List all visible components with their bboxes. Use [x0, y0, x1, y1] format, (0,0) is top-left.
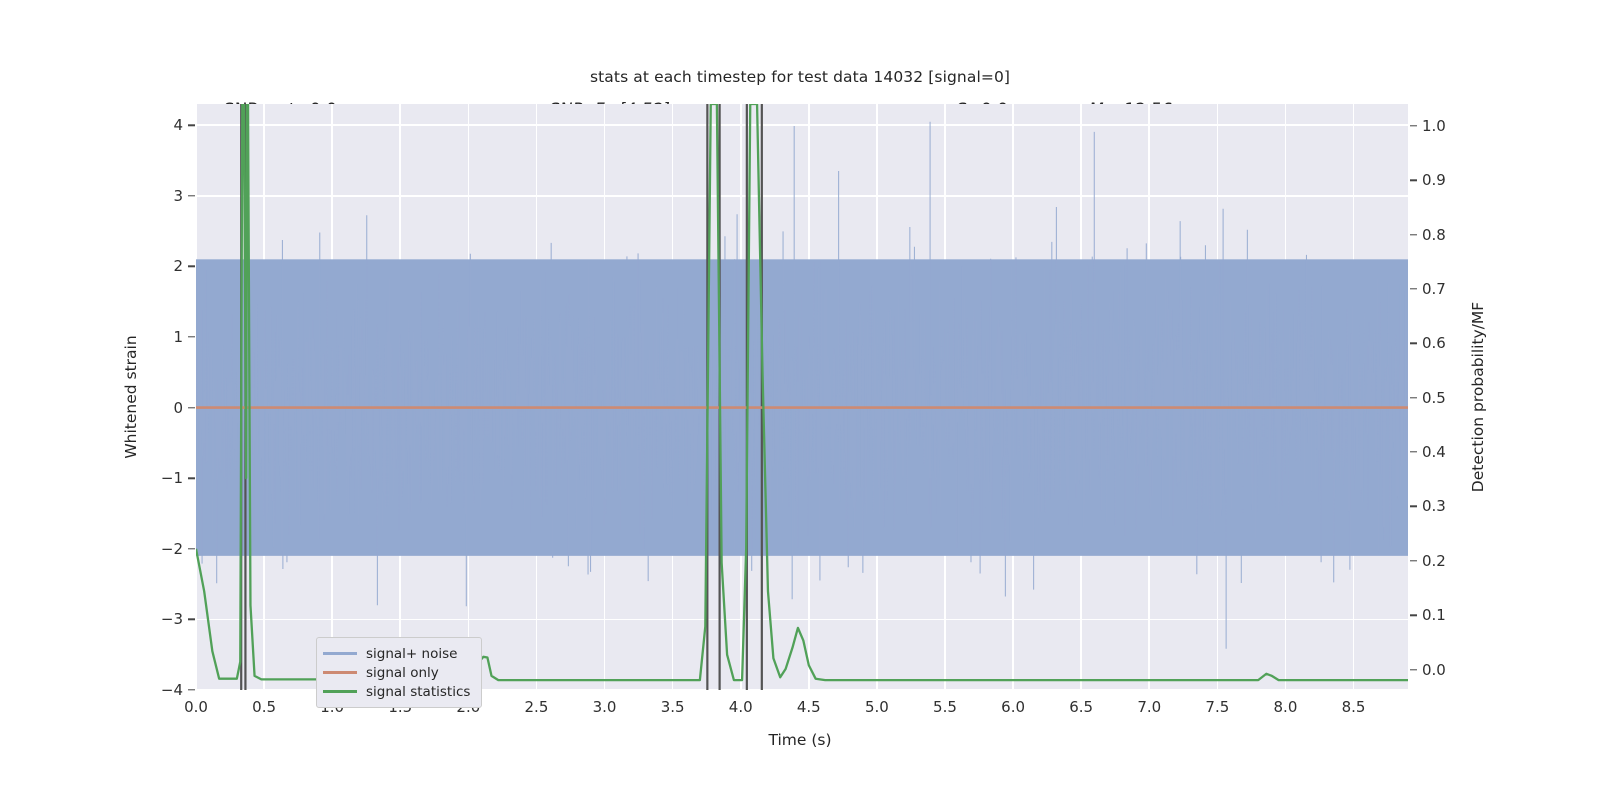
y-axis-left-tick-mark: [188, 336, 195, 337]
y-axis-right-tick-mark: [1410, 288, 1417, 289]
y-axis-left-tick-mark: [188, 407, 195, 408]
y-axis-left-label: Whitened strain: [122, 335, 140, 458]
x-axis-tick-label: 8.5: [1342, 698, 1366, 716]
y-axis-right-tick-mark: [1410, 615, 1417, 616]
x-axis-tick-label: 0.0: [184, 698, 208, 716]
y-axis-right-tick-label: 0.5: [1422, 389, 1446, 407]
x-axis-tick-label: 3.0: [593, 698, 617, 716]
y-axis-left-tick-mark: [188, 477, 195, 478]
figure-canvas: stats at each timestep for test data 140…: [0, 0, 1600, 800]
y-axis-left-tick-mark: [188, 124, 195, 125]
y-axis-left-tick-label: 2: [173, 257, 183, 275]
y-axis-right-tick-mark: [1410, 397, 1417, 398]
legend-label-signal-statistics: signal statistics: [366, 684, 470, 700]
y-axis-left-tick-label: −1: [161, 469, 183, 487]
y-axis-left-tick-label: 0: [173, 399, 183, 417]
legend-swatch-signal-only: [323, 671, 357, 673]
x-axis-tick-label: 5.0: [865, 698, 889, 716]
y-axis-right-tick-label: 0.8: [1422, 226, 1446, 244]
y-axis-right-tick-mark: [1410, 451, 1417, 452]
y-axis-right-label: Detection probability/MF: [1469, 302, 1487, 492]
y-axis-left-tick-mark: [188, 195, 195, 196]
y-axis-right-tick-label: 0.9: [1422, 171, 1446, 189]
y-axis-right-tick-label: 1.0: [1422, 117, 1446, 135]
y-axis-left-tick-label: 4: [173, 116, 183, 134]
chart-title: stats at each timestep for test data 140…: [0, 68, 1600, 86]
y-axis-right-tick-mark: [1410, 234, 1417, 235]
y-axis-left-tick-label: 1: [173, 328, 183, 346]
y-axis-right-tick-label: 0.2: [1422, 552, 1446, 570]
y-axis-right-tick-label: 0.0: [1422, 661, 1446, 679]
y-axis-left-tick-mark: [188, 548, 195, 549]
x-axis-tick-label: 8.0: [1274, 698, 1298, 716]
y-axis-right-tick-mark: [1410, 560, 1417, 561]
y-axis-right-tick-label: 0.1: [1422, 606, 1446, 624]
legend-label-signal-only: signal only: [366, 665, 439, 681]
y-axis-left-tick-label: −4: [161, 681, 183, 699]
plot-area: [196, 104, 1408, 690]
x-axis-tick-label: 7.5: [1205, 698, 1229, 716]
y-axis-right-tick-mark: [1410, 343, 1417, 344]
x-axis-label: Time (s): [0, 731, 1600, 749]
x-axis-tick-label: 4.0: [729, 698, 753, 716]
legend-item-signal-only: signal only: [323, 663, 473, 682]
traces-layer: [196, 104, 1408, 690]
x-axis-tick-label: 6.0: [1001, 698, 1025, 716]
x-axis-tick-label: 0.5: [252, 698, 276, 716]
legend-label-signal-plus-noise: signal+ noise: [366, 646, 457, 662]
y-axis-right-tick-mark: [1410, 179, 1417, 180]
legend-box: signal+ noise signal only signal statist…: [316, 637, 482, 708]
y-axis-right-tick-mark: [1410, 506, 1417, 507]
y-axis-right-tick-label: 0.4: [1422, 443, 1446, 461]
y-axis-left-tick-label: −3: [161, 610, 183, 628]
y-axis-left-tick-mark: [188, 689, 195, 690]
y-axis-right-tick-mark: [1410, 125, 1417, 126]
y-axis-right-tick-label: 0.7: [1422, 280, 1446, 298]
y-axis-left-tick-mark: [188, 619, 195, 620]
y-axis-right-tick-mark: [1410, 669, 1417, 670]
signal-plus-noise-trace: [196, 122, 1408, 649]
legend-swatch-signal-statistics: [323, 690, 357, 692]
x-axis-tick-label: 3.5: [661, 698, 685, 716]
y-axis-left-tick-label: 3: [173, 187, 183, 205]
x-axis-tick-label: 6.5: [1069, 698, 1093, 716]
y-axis-right-tick-label: 0.3: [1422, 497, 1446, 515]
x-axis-tick-label: 5.5: [933, 698, 957, 716]
x-axis-tick-label: 4.5: [797, 698, 821, 716]
y-axis-left-tick-label: −2: [161, 540, 183, 558]
x-axis-tick-label: 2.5: [525, 698, 549, 716]
x-axis-tick-label: 7.0: [1137, 698, 1161, 716]
y-axis-right-tick-label: 0.6: [1422, 334, 1446, 352]
legend-item-signal-plus-noise: signal+ noise: [323, 644, 473, 663]
y-axis-left-tick-mark: [188, 266, 195, 267]
legend-swatch-signal-plus-noise: [323, 652, 357, 654]
legend-item-signal-statistics: signal statistics: [323, 682, 473, 701]
